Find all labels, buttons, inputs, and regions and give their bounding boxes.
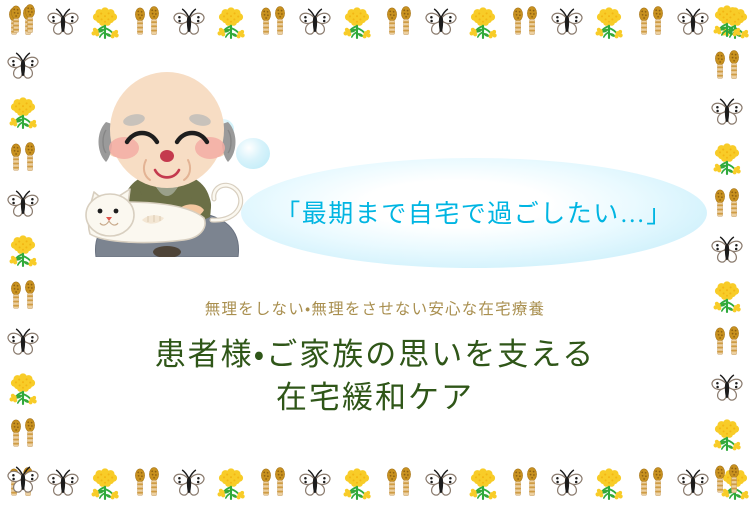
tsukushi-pair-icon	[126, 463, 168, 505]
tsukushi-pair-icon	[706, 460, 748, 502]
butterfly-icon	[706, 92, 748, 134]
butterfly-icon	[42, 463, 84, 505]
butterfly-icon	[294, 2, 336, 44]
butterfly-icon	[546, 2, 588, 44]
butterfly-icon	[2, 460, 44, 502]
tsukushi-pair-icon	[504, 2, 546, 44]
butterfly-icon	[2, 184, 44, 226]
tsukushi-pair-icon	[378, 463, 420, 505]
rape-blossom-icon	[336, 463, 378, 505]
butterfly-icon	[2, 46, 44, 88]
tsukushi-pair-icon	[252, 2, 294, 44]
tsukushi-pair-icon	[706, 184, 748, 226]
tsukushi-pair-icon	[2, 138, 44, 180]
tsukushi-pair-icon	[504, 463, 546, 505]
tsukushi-pair-icon	[630, 463, 672, 505]
tsukushi-pair-icon	[706, 322, 748, 364]
butterfly-icon	[168, 2, 210, 44]
elderly-man-with-cat-illustration	[72, 52, 262, 257]
rape-blossom-icon	[2, 230, 44, 272]
tsukushi-pair-icon	[2, 276, 44, 318]
rape-blossom-icon	[706, 276, 748, 318]
rape-blossom-icon	[84, 2, 126, 44]
tsukushi-pair-icon	[630, 2, 672, 44]
rape-blossom-icon	[706, 0, 748, 42]
rape-blossom-icon	[210, 463, 252, 505]
butterfly-icon	[2, 322, 44, 364]
speech-bubble-text: 「最期まで自宅で過ごしたい…」	[275, 194, 673, 230]
page-title-line-1: 患者様・ご家族の思いを支える	[0, 334, 750, 377]
page-title-line-2: 在宅緩和ケア	[0, 377, 750, 420]
tsukushi-pair-icon	[2, 414, 44, 456]
butterfly-icon	[546, 463, 588, 505]
border-top	[0, 0, 750, 46]
butterfly-icon	[42, 2, 84, 44]
rape-blossom-icon	[84, 463, 126, 505]
border-bottom	[0, 461, 750, 507]
headline-block: 無理をしない・無理をさせない安心な在宅療養 患者様・ご家族の思いを支える 在宅緩…	[0, 300, 750, 420]
rape-blossom-icon	[462, 463, 504, 505]
page-title: 患者様・ご家族の思いを支える 在宅緩和ケア	[0, 334, 750, 420]
border-left	[0, 0, 46, 507]
rape-blossom-icon	[706, 414, 748, 456]
rape-blossom-icon	[2, 368, 44, 410]
subtitle-text: 無理をしない・無理をさせない安心な在宅療養	[0, 300, 750, 320]
speech-bubble: 「最期まで自宅で過ごしたい…」	[241, 158, 707, 268]
rape-blossom-icon	[588, 2, 630, 44]
butterfly-icon	[168, 463, 210, 505]
tsukushi-pair-icon	[378, 2, 420, 44]
tsukushi-pair-icon	[706, 46, 748, 88]
tsukushi-pair-icon	[126, 2, 168, 44]
butterfly-icon	[420, 2, 462, 44]
rape-blossom-icon	[336, 2, 378, 44]
tsukushi-pair-icon	[2, 0, 44, 42]
rape-blossom-icon	[706, 138, 748, 180]
border-right	[704, 0, 750, 507]
butterfly-icon	[706, 368, 748, 410]
rape-blossom-icon	[588, 463, 630, 505]
tsukushi-pair-icon	[252, 463, 294, 505]
rape-blossom-icon	[2, 92, 44, 134]
rape-blossom-icon	[462, 2, 504, 44]
poster-canvas: 「最期まで自宅で過ごしたい…」 無理をしない・無理をさせない安心な在宅療養 患者…	[0, 0, 750, 507]
butterfly-icon	[420, 463, 462, 505]
butterfly-icon	[706, 230, 748, 272]
rape-blossom-icon	[210, 2, 252, 44]
butterfly-icon	[294, 463, 336, 505]
